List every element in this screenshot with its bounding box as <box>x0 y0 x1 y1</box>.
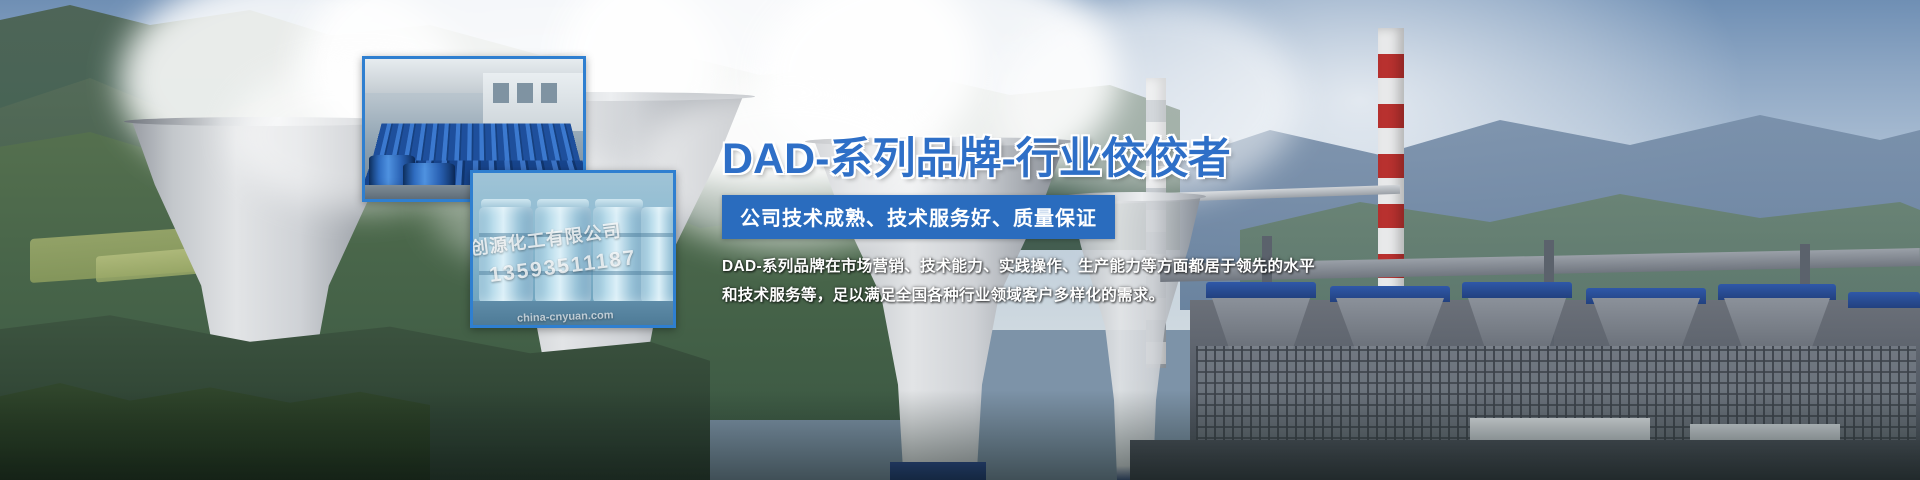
white-drum <box>641 207 676 303</box>
drum-ring <box>479 233 676 237</box>
product-photo-drums: 德阳市创源化工有限公司 13593511187 china-cnyuan.com <box>470 170 676 328</box>
blue-roof-unit <box>1848 292 1920 308</box>
banner-body-line-1: DAD-系列品牌在市场营销、技术能力、实践操作、生产能力等方面都居于领先的水平 <box>722 253 1422 282</box>
warehouse-window <box>517 83 533 103</box>
drum-floor <box>473 301 673 325</box>
banner-subtitle-bar: 公司技术成熟、技术服务好、质量保证 <box>722 195 1115 239</box>
hero-banner: 德阳市创源化工有限公司 13593511187 china-cnyuan.com… <box>0 0 1920 480</box>
banner-body-text: DAD-系列品牌在市场营销、技术能力、实践操作、生产能力等方面都居于领先的水平 … <box>722 253 1422 310</box>
blue-roof-unit <box>1462 282 1572 298</box>
warehouse-window <box>493 83 509 103</box>
warehouse-window <box>541 83 557 103</box>
white-drum <box>535 207 591 303</box>
blue-roof-unit <box>1718 284 1836 300</box>
drum-ring <box>479 271 676 275</box>
bottom-vignette <box>0 390 1920 480</box>
white-drum <box>479 207 533 303</box>
banner-body-line-2: 和技术服务等，足以满足全国各种行业领域客户多样化的需求。 <box>722 282 1422 311</box>
banner-text-block: DAD-系列品牌-行业佼佼者 公司技术成熟、技术服务好、质量保证 DAD-系列品… <box>722 138 1422 310</box>
white-drum <box>593 207 645 303</box>
banner-headline: DAD-系列品牌-行业佼佼者 <box>722 138 1422 181</box>
